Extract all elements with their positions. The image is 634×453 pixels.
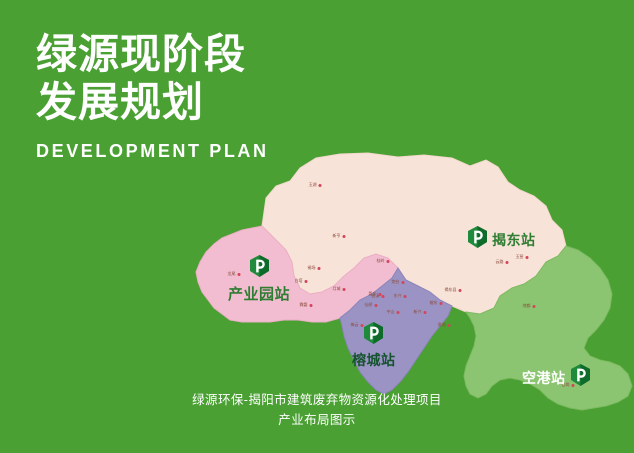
town-marker: 白塔	[295, 279, 308, 283]
town-label: 地都	[523, 304, 531, 308]
town-dot-icon	[533, 305, 536, 308]
town-dot-icon	[387, 260, 390, 263]
town-marker: 中山	[387, 310, 400, 314]
town-dot-icon	[526, 256, 529, 259]
caption-block: 绿源环保-揭阳市建筑废弃物资源化处理项目 产业布局图示	[0, 390, 634, 431]
town-marker: 桂岭	[377, 259, 390, 263]
town-label: 月城	[333, 287, 341, 291]
town-label: 榕东	[430, 301, 438, 305]
town-dot-icon	[343, 235, 346, 238]
caption-line-1: 绿源环保-揭阳市建筑废弃物资源化处理项目	[0, 390, 634, 411]
caption-line-2: 产业布局图示	[0, 410, 634, 431]
town-marker: 地都	[523, 304, 536, 308]
town-marker: 榕东	[430, 301, 443, 305]
town-dot-icon	[375, 304, 378, 307]
station-marker-konggang[interactable]: 空港站	[522, 364, 590, 391]
town-label: 锡场	[308, 266, 316, 270]
town-label: 渔湖	[438, 323, 446, 327]
station-marker-jiedong[interactable]: 揭东站	[468, 226, 536, 253]
town-marker: 新亨	[333, 234, 346, 238]
town-marker: 锡场	[308, 266, 321, 270]
town-dot-icon	[402, 281, 405, 284]
town-dot-icon	[343, 288, 346, 291]
town-dot-icon	[397, 311, 400, 314]
town-marker: 霖磐	[300, 303, 313, 307]
town-dot-icon	[305, 280, 308, 283]
town-marker: 云路	[496, 260, 509, 264]
town-marker: 磐东	[369, 292, 382, 296]
town-marker: 仙桥	[365, 303, 378, 307]
town-label: 炮台	[392, 280, 400, 284]
town-dot-icon	[459, 289, 462, 292]
lvyuan-logo-icon	[250, 255, 269, 282]
town-marker: 揭东县	[445, 288, 462, 292]
town-label: 云路	[496, 260, 504, 264]
town-label: 新兴	[414, 310, 422, 314]
town-dot-icon	[318, 267, 321, 270]
town-marker: 炮台	[392, 280, 405, 284]
town-label: 东兴	[394, 294, 402, 298]
town-dot-icon	[404, 295, 407, 298]
station-marker-rongcheng[interactable]: 榕城站	[352, 322, 396, 370]
town-label: 玉窖	[516, 255, 524, 259]
lvyuan-logo-icon	[364, 322, 383, 349]
town-label: 中山	[387, 310, 395, 314]
town-label: 玉湖	[309, 183, 317, 187]
lvyuan-logo-icon	[468, 226, 487, 253]
town-dot-icon	[440, 302, 443, 305]
town-marker: 新兴	[414, 310, 427, 314]
town-marker: 玉窖	[516, 255, 529, 259]
town-label: 霖磐	[300, 303, 308, 307]
town-dot-icon	[310, 304, 313, 307]
lvyuan-logo-icon	[571, 364, 590, 391]
page-title-line-1: 绿源现阶段	[36, 30, 366, 78]
town-label: 磐东	[369, 292, 377, 296]
station-label-rongcheng: 榕城站	[352, 350, 396, 370]
header-block: 绿源现阶段 发展规划 DEVELOPMENT PLAN	[36, 30, 366, 162]
page-title-line-2: 发展规划	[36, 78, 366, 126]
town-label: 桂岭	[377, 259, 385, 263]
town-dot-icon	[382, 295, 385, 298]
town-marker: 月城	[333, 287, 346, 291]
town-marker: 东兴	[394, 294, 407, 298]
station-label-chanyeyuan: 产业园站	[228, 283, 290, 304]
page-subtitle-en: DEVELOPMENT PLAN	[36, 141, 366, 162]
town-label: 白塔	[295, 279, 303, 283]
town-label: 新亨	[333, 234, 341, 238]
town-dot-icon	[424, 311, 427, 314]
station-label-konggang: 空港站	[522, 368, 566, 388]
town-marker: 渔湖	[438, 323, 451, 327]
station-marker-chanyeyuan[interactable]: 产业园站	[228, 255, 290, 304]
station-label-jiedong: 揭东站	[492, 230, 536, 250]
town-dot-icon	[448, 324, 451, 327]
town-label: 揭东县	[445, 288, 457, 292]
poster-root: 玉湖新亨桂岭锡场白塔月城霖磐龙尾炮台曲溪磐东仙桥东兴榕东中山新兴梅云揭东县云路玉…	[0, 0, 634, 453]
town-dot-icon	[379, 293, 382, 296]
town-dot-icon	[319, 184, 322, 187]
town-label: 仙桥	[365, 303, 373, 307]
town-dot-icon	[506, 261, 509, 264]
town-marker: 玉湖	[309, 183, 322, 187]
